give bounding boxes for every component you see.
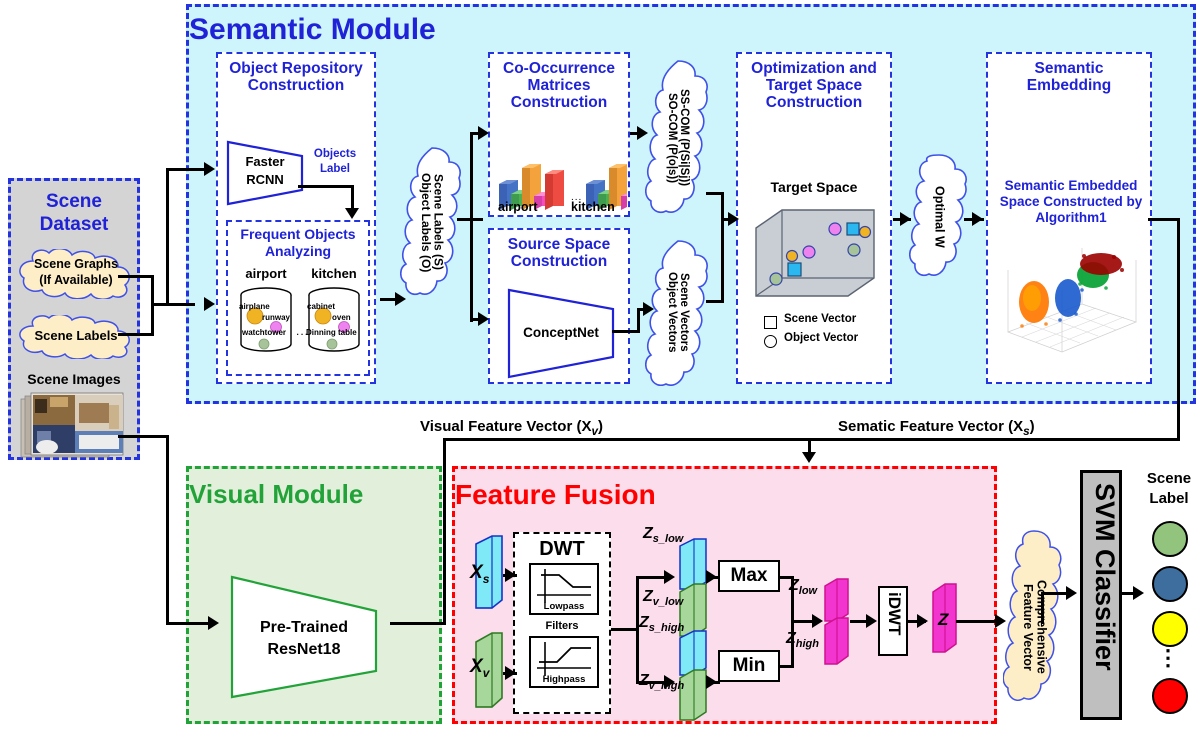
comcloud-input-arrowhead	[637, 126, 648, 140]
frequent-airport-obj-1: runway	[262, 313, 290, 322]
scene-labels-out-line	[118, 333, 154, 336]
scene-dataset-title-l2: Dataset	[11, 214, 137, 236]
conceptnet-to-vectors-h	[612, 330, 640, 333]
rcnn-out-line-h	[298, 185, 354, 188]
optimization-title-l2: Target Space	[738, 77, 890, 94]
optimization-title-l3: Construction	[738, 94, 890, 111]
svm-classifier-label: SVM Classifier	[1089, 483, 1120, 671]
dwt-split-v	[636, 576, 639, 684]
embedding-scatter-plot	[996, 240, 1146, 360]
dataset-to-rcnn-vline	[166, 168, 169, 306]
resnet18-block: Pre-Trained ResNet18	[229, 573, 379, 701]
min-input-arrowhead	[706, 675, 717, 689]
frequent-objects-title-l2: Analyzing	[228, 243, 368, 260]
scene-object-labels-cloud: Scene Labels (S) Object Labels (O)	[400, 145, 464, 300]
comprehensive-input-arrowhead	[995, 614, 1006, 628]
z-s-low-label: Zs_low	[643, 525, 683, 545]
cooccurrence-title-l2: Matrices	[490, 77, 628, 94]
xv-to-dwt-arrowhead	[505, 666, 516, 680]
scene-dataset-title-l1: Scene	[11, 191, 137, 213]
legend-label-scene-vector: Scene Vector	[784, 313, 856, 325]
labels-cloud-input-arrowhead	[395, 292, 406, 306]
zlowhigh-input-arrowhead	[812, 614, 823, 628]
semantic-feature-vector-caption: Sematic Feature Vector (Xs)	[838, 418, 1035, 438]
visual-feature-vector-caption: Visual Feature Vector (Xv)	[420, 418, 603, 438]
scene-label-swatch-3	[1152, 678, 1188, 714]
frequent-kitchen-obj-1: oven	[332, 313, 351, 322]
scene-labels-cloud: Scene Labels	[15, 315, 137, 359]
idwt-label: iDWT	[884, 592, 904, 635]
semantic-embedding-caption-l3: Algorithm1	[992, 210, 1150, 226]
xv-label: Xv	[470, 656, 489, 680]
conceptnet-label: ConceptNet	[506, 325, 616, 340]
scene-object-vectors-cloud: Scene Vectors Object Vectors	[645, 238, 711, 386]
idwt-box: iDWT	[878, 586, 908, 656]
z-s-high-label: Zs_high	[639, 614, 684, 634]
highpass-label: Highpass	[531, 674, 597, 685]
object-repository-box: Object Repository Construction Faster RC…	[216, 52, 376, 384]
coocc-input-arrowhead	[478, 126, 489, 140]
embedding-input-arrowhead	[972, 212, 983, 226]
scene-label-output-title-l2: Label	[1140, 490, 1198, 507]
embedding-out-h	[1148, 218, 1180, 221]
z-final-label: Z	[938, 610, 948, 630]
z-v-low-label: Zv_low	[643, 588, 683, 608]
dwt-out-h	[611, 628, 639, 631]
visual-module-title: Visual Module	[189, 479, 439, 510]
frequent-airport-obj-2: watchtower	[242, 328, 286, 337]
svm-input-arrowhead	[1066, 586, 1077, 600]
rcnn-out-arrowhead	[345, 208, 359, 219]
scene-label-output-title-l1: Scene	[1140, 470, 1198, 487]
zlow-input-arrowhead	[664, 570, 675, 584]
scene-images-thumbnail	[17, 391, 135, 463]
semantic-embedding-caption-l2: Space Constructed by	[992, 194, 1150, 210]
com-matrices-cloud-text: SS-COM (P(Si|Sj)) SO-COM (P(o|s))	[666, 89, 690, 186]
scene-dataset-panel: Scene Dataset Scene Graphs (If Available…	[8, 178, 140, 460]
source-input-arrowhead	[478, 312, 489, 326]
frequent-group-kitchen-name: kitchen	[306, 266, 362, 281]
conceptnet-to-vectors-v	[637, 308, 640, 333]
comprehensive-feature-vector-cloud: Comprehensive Feature Vector	[1003, 528, 1065, 726]
filters-label: Filters	[515, 620, 609, 632]
svm-output-arrowhead	[1133, 586, 1144, 600]
frequent-airport-obj-0: airplane	[239, 302, 270, 311]
scene-object-labels-cloud-text: Scene Labels (S) Object Labels (O)	[419, 173, 444, 272]
faster-rcnn-label-l2: RCNN	[226, 172, 304, 187]
semantic-out-down-v	[1177, 218, 1180, 440]
cloud-to-svm-v	[1041, 592, 1044, 624]
semantic-embedding-title-l2: Embedding	[988, 77, 1150, 94]
frequent-group-airport-name: airport	[238, 266, 294, 281]
optimal-w-cloud-text: Optimal W	[932, 186, 945, 248]
scene-label-swatch-0	[1152, 521, 1188, 557]
semantic-embedding-title-l1: Semantic	[988, 60, 1150, 77]
optimization-merge-v	[721, 192, 724, 303]
svm-classifier-box: SVM Classifier	[1080, 470, 1122, 720]
scene-object-vectors-cloud-text: Scene Vectors Object Vectors	[666, 272, 690, 353]
dataset-merge-to-rcnn-h	[151, 303, 195, 306]
resnet-out-h	[390, 622, 446, 625]
max-box: Max	[718, 560, 780, 592]
rcnn-input-arrowhead	[204, 162, 215, 176]
dwt-box: DWT Lowpass Filters Highpass	[513, 532, 611, 714]
semantic-feature-left-h	[808, 438, 1180, 441]
visual-module-panel: Visual Module Pre-Trained ResNet18	[186, 466, 442, 724]
faster-rcnn-block: Faster RCNN	[226, 140, 304, 206]
objects-label-edge-l2: Label	[306, 163, 364, 175]
faster-rcnn-label-l1: Faster	[226, 154, 304, 169]
scene-images-out-h	[118, 435, 168, 438]
resnet18-label-l1: Pre-Trained	[229, 619, 379, 637]
scene-images-to-resnet-h	[166, 622, 210, 625]
cooccurrence-chart-label-1: kitchen	[571, 200, 615, 214]
cooccurrence-title-l3: Construction	[490, 94, 628, 111]
frequent-input-arrowhead	[204, 297, 215, 311]
scene-graphs-cloud: Scene Graphs (If Available)	[15, 249, 137, 299]
dwt-title: DWT	[515, 538, 609, 561]
object-repository-title-l2: Construction	[218, 77, 374, 94]
scene-graphs-out-line	[118, 275, 154, 278]
legend-square-icon	[764, 316, 777, 329]
fusion-semantic-input-arrowhead	[802, 452, 816, 463]
frequent-kitchen-obj-2: Dinning table	[306, 328, 357, 337]
scene-images-label: Scene Images	[11, 371, 137, 387]
scene-label-swatch-2	[1152, 611, 1188, 647]
zhigh-input-arrowhead	[664, 675, 675, 689]
scene-images-down-v	[166, 435, 169, 625]
min-box: Min	[718, 650, 780, 682]
max-input-arrowhead	[706, 570, 717, 584]
resnet18-label-l2: ResNet18	[229, 641, 379, 659]
semantic-embedding-caption-l1: Semantic Embedded	[992, 178, 1150, 194]
scene-label-swatch-1	[1152, 566, 1188, 602]
visual-feature-right-h	[443, 438, 809, 441]
scene-label-ellipsis: ⋮	[1152, 648, 1184, 668]
optimization-input-arrowhead	[728, 212, 739, 226]
vectors-cloud-input-arrowhead	[643, 302, 654, 316]
source-space-title-l2: Construction	[490, 253, 628, 270]
resnet-out-up-v	[443, 438, 446, 625]
scene-graphs-label-l1: Scene Graphs	[15, 257, 137, 271]
optimization-box: Optimization and Target Space Constructi…	[736, 52, 892, 384]
source-space-title-l1: Source Space	[490, 236, 628, 253]
source-space-box: Source Space Construction ConceptNet	[488, 228, 630, 384]
dataset-to-rcnn-top-h	[166, 168, 206, 171]
object-repository-title-l1: Object Repository	[218, 60, 374, 77]
frequent-objects-box: Frequent Objects Analyzing airport airpl…	[226, 220, 370, 376]
xs-label: Xs	[470, 562, 489, 586]
resnet-input-arrowhead	[208, 616, 219, 630]
cloud-split-v	[470, 132, 473, 322]
conceptnet-block: ConceptNet	[506, 287, 616, 380]
xs-to-dwt-arrowhead	[505, 568, 516, 582]
objects-label-edge-l1: Objects	[306, 148, 364, 160]
com-matrices-cloud: SS-COM (P(Si|Sj)) SO-COM (P(o|s))	[645, 58, 711, 218]
legend-label-object-vector: Object Vector	[784, 332, 858, 344]
optimal-w-cloud: Optimal W	[909, 152, 969, 282]
feature-fusion-title: Feature Fusion	[455, 479, 994, 511]
cooccurrence-chart-label-0: airport	[498, 200, 538, 214]
idwt-input-arrowhead	[866, 614, 877, 628]
target-space-cube	[752, 206, 878, 306]
semantic-module-title: Semantic Module	[189, 13, 1193, 47]
lowpass-filter-plot: Lowpass	[529, 563, 599, 615]
target-space-plot-title: Target Space	[738, 179, 890, 195]
optimization-title-l1: Optimization and	[738, 60, 890, 77]
frequent-kitchen-obj-0: cabinet	[307, 302, 335, 311]
semantic-embedding-box: Semantic Embedding Semantic Embedded Spa…	[986, 52, 1152, 384]
z-high-prism	[822, 616, 852, 668]
lowpass-label: Lowpass	[531, 601, 597, 612]
cooccurrence-box: Co-Occurrence Matrices Construction ... …	[488, 52, 630, 217]
legend-circle-icon	[764, 335, 777, 348]
optimalw-input-arrowhead	[900, 212, 911, 226]
z-input-arrowhead	[917, 614, 928, 628]
highpass-filter-plot: Highpass	[529, 636, 599, 688]
cooccurrence-title-l1: Co-Occurrence	[490, 60, 628, 77]
frequent-objects-title-l1: Frequent Objects	[228, 226, 368, 243]
